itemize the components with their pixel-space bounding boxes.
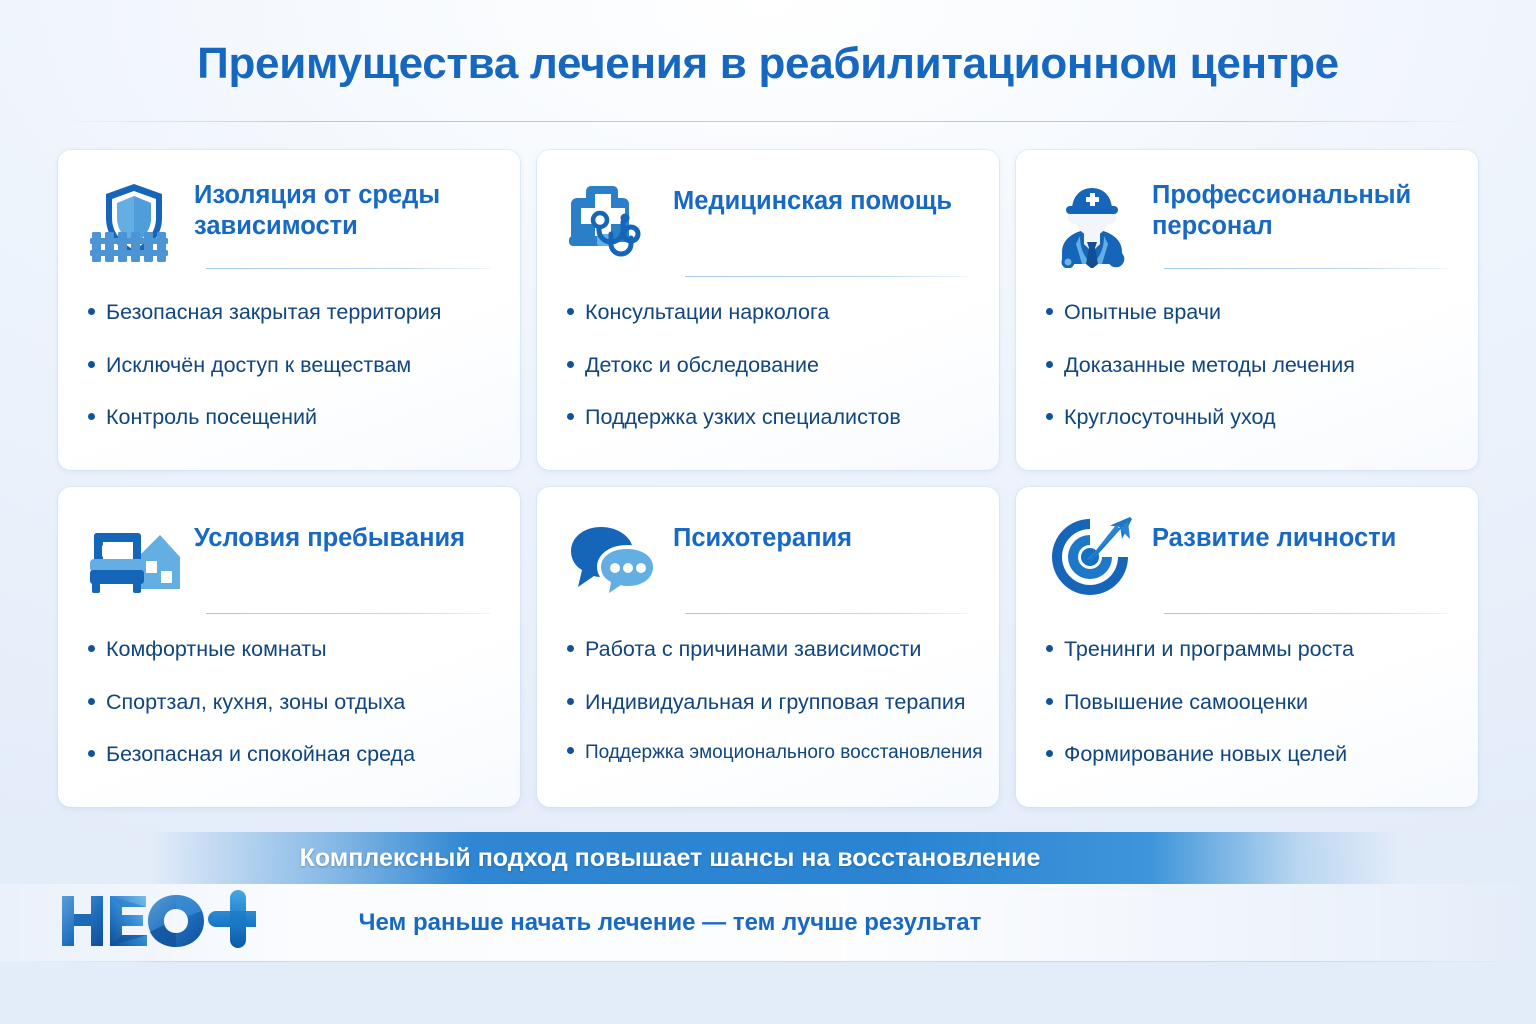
bullet-text: Поддержка узких специалистов: [585, 405, 901, 430]
bullet-text: Спортзал, кухня, зоны отдыха: [106, 690, 405, 715]
card-bullet-list: Тренинги и программы роста Повышение сам…: [1046, 637, 1454, 795]
list-item: Исключён доступ к веществам: [88, 353, 496, 378]
list-item: Комфортные комнаты: [88, 637, 496, 662]
card-bullet-list: Опытные врачи Доказанные методы лечения …: [1046, 300, 1454, 458]
bullet-dot-icon: [1046, 750, 1053, 757]
benefit-card-medical-help[interactable]: Медицинская помощь Консультации нарколог…: [537, 150, 999, 470]
target-arrow-icon: [1046, 513, 1138, 605]
bullet-dot-icon: [88, 308, 95, 315]
list-item: Поддержка эмоционального восстановления: [567, 742, 975, 764]
shield-fence-icon: [88, 176, 180, 268]
list-item: Работа с причинами зависимости: [567, 637, 975, 662]
bullet-text: Комфортные комнаты: [106, 637, 327, 662]
card-header: Развитие личности: [1046, 513, 1448, 609]
card-header: Психотерапия: [567, 513, 969, 609]
list-item: Индивидуальная и групповая терапия: [567, 690, 975, 715]
bullet-text: Формирование новых целей: [1064, 742, 1347, 767]
bullet-dot-icon: [567, 698, 574, 705]
list-item: Тренинги и программы роста: [1046, 637, 1454, 662]
card-header: Изоляция от среды зависимости: [88, 176, 490, 272]
bullet-dot-icon: [88, 361, 95, 368]
card-divider: [1164, 613, 1448, 614]
card-title: Развитие личности: [1152, 513, 1448, 554]
card-bullet-list: Комфортные комнаты Спортзал, кухня, зоны…: [88, 637, 496, 795]
bullet-text: Работа с причинами зависимости: [585, 637, 921, 662]
list-item: Детокс и обследование: [567, 353, 975, 378]
card-title: Изоляция от среды зависимости: [194, 176, 490, 242]
bullet-text: Тренинги и программы роста: [1064, 637, 1354, 662]
neo-plus-logo[interactable]: [56, 888, 256, 954]
benefit-card-professional-staff[interactable]: Профессиональный персонал Опытные врачи …: [1016, 150, 1478, 470]
card-header: Профессиональный персонал: [1046, 176, 1448, 272]
card-bullet-list: Работа с причинами зависимости Индивидуа…: [567, 637, 975, 792]
bullet-dot-icon: [88, 413, 95, 420]
list-item: Повышение самооценки: [1046, 690, 1454, 715]
bullet-dot-icon: [1046, 698, 1053, 705]
bullet-text: Доказанные методы лечения: [1064, 353, 1355, 378]
benefits-grid: Изоляция от среды зависимости Безопасная…: [58, 150, 1478, 807]
benefit-card-personal-growth[interactable]: Развитие личности Тренинги и программы р…: [1016, 487, 1478, 807]
list-item: Доказанные методы лечения: [1046, 353, 1454, 378]
list-item: Формирование новых целей: [1046, 742, 1454, 767]
card-divider: [685, 613, 969, 614]
bullet-text: Опытные врачи: [1064, 300, 1221, 325]
bullet-dot-icon: [88, 645, 95, 652]
bullet-dot-icon: [567, 361, 574, 368]
card-title: Условия пребывания: [194, 513, 490, 554]
bullet-text: Консультации нарколога: [585, 300, 829, 325]
page-title: Преимущества лечения в реабилитационном …: [197, 39, 1339, 89]
bullet-text: Контроль посещений: [106, 405, 317, 430]
bullet-text: Круглосуточный уход: [1064, 405, 1276, 430]
list-item: Поддержка узких специалистов: [567, 405, 975, 430]
bullet-dot-icon: [567, 747, 574, 754]
card-divider: [1164, 268, 1448, 269]
bullet-text: Безопасная закрытая территория: [106, 300, 441, 325]
bullet-dot-icon: [1046, 645, 1053, 652]
bullet-text: Поддержка эмоционального восстановления: [585, 742, 983, 764]
benefit-card-living-conditions[interactable]: Условия пребывания Комфортные комнаты Сп…: [58, 487, 520, 807]
bullet-text: Безопасная и спокойная среда: [106, 742, 415, 767]
list-item: Круглосуточный уход: [1046, 405, 1454, 430]
bullet-dot-icon: [1046, 308, 1053, 315]
benefit-card-isolation[interactable]: Изоляция от среды зависимости Безопасная…: [58, 150, 520, 470]
card-title: Медицинская помощь: [673, 176, 969, 217]
card-bullet-list: Безопасная закрытая территория Исключён …: [88, 300, 496, 458]
list-item: Безопасная закрытая территория: [88, 300, 496, 325]
bullet-text: Детокс и обследование: [585, 353, 819, 378]
bullet-dot-icon: [1046, 413, 1053, 420]
bullet-text: Повышение самооценки: [1064, 690, 1308, 715]
bed-house-icon: [88, 513, 180, 605]
list-item: Безопасная и спокойная среда: [88, 742, 496, 767]
bullet-dot-icon: [567, 413, 574, 420]
card-title: Психотерапия: [673, 513, 969, 554]
benefit-card-psychotherapy[interactable]: Психотерапия Работа с причинами зависимо…: [537, 487, 999, 807]
footer-divider: [0, 961, 1536, 962]
card-divider: [206, 268, 490, 269]
bullet-text: Исключён доступ к веществам: [106, 353, 411, 378]
page-header: Преимущества лечения в реабилитационном …: [0, 0, 1536, 128]
list-item: Консультации нарколога: [567, 300, 975, 325]
list-item: Опытные врачи: [1046, 300, 1454, 325]
card-bullet-list: Консультации нарколога Детокс и обследов…: [567, 300, 975, 458]
footer-banner-text: Комплексный подход повышает шансы на вос…: [0, 844, 1340, 873]
bullet-text: Индивидуальная и групповая терапия: [585, 690, 966, 715]
bullet-dot-icon: [567, 308, 574, 315]
list-item: Спортзал, кухня, зоны отдыха: [88, 690, 496, 715]
card-title: Профессиональный персонал: [1152, 176, 1448, 242]
card-header: Условия пребывания: [88, 513, 490, 609]
list-item: Контроль посещений: [88, 405, 496, 430]
doctor-icon: [1046, 176, 1138, 268]
bullet-dot-icon: [567, 645, 574, 652]
medical-bag-stethoscope-icon: [567, 176, 659, 268]
footer-banner: Комплексный подход повышает шансы на вос…: [0, 832, 1536, 884]
header-divider: [55, 121, 1481, 122]
bullet-dot-icon: [1046, 361, 1053, 368]
speech-bubbles-icon: [567, 513, 659, 605]
card-divider: [206, 613, 490, 614]
bullet-dot-icon: [88, 750, 95, 757]
card-header: Медицинская помощь: [567, 176, 969, 272]
card-divider: [685, 276, 969, 277]
bullet-dot-icon: [88, 698, 95, 705]
